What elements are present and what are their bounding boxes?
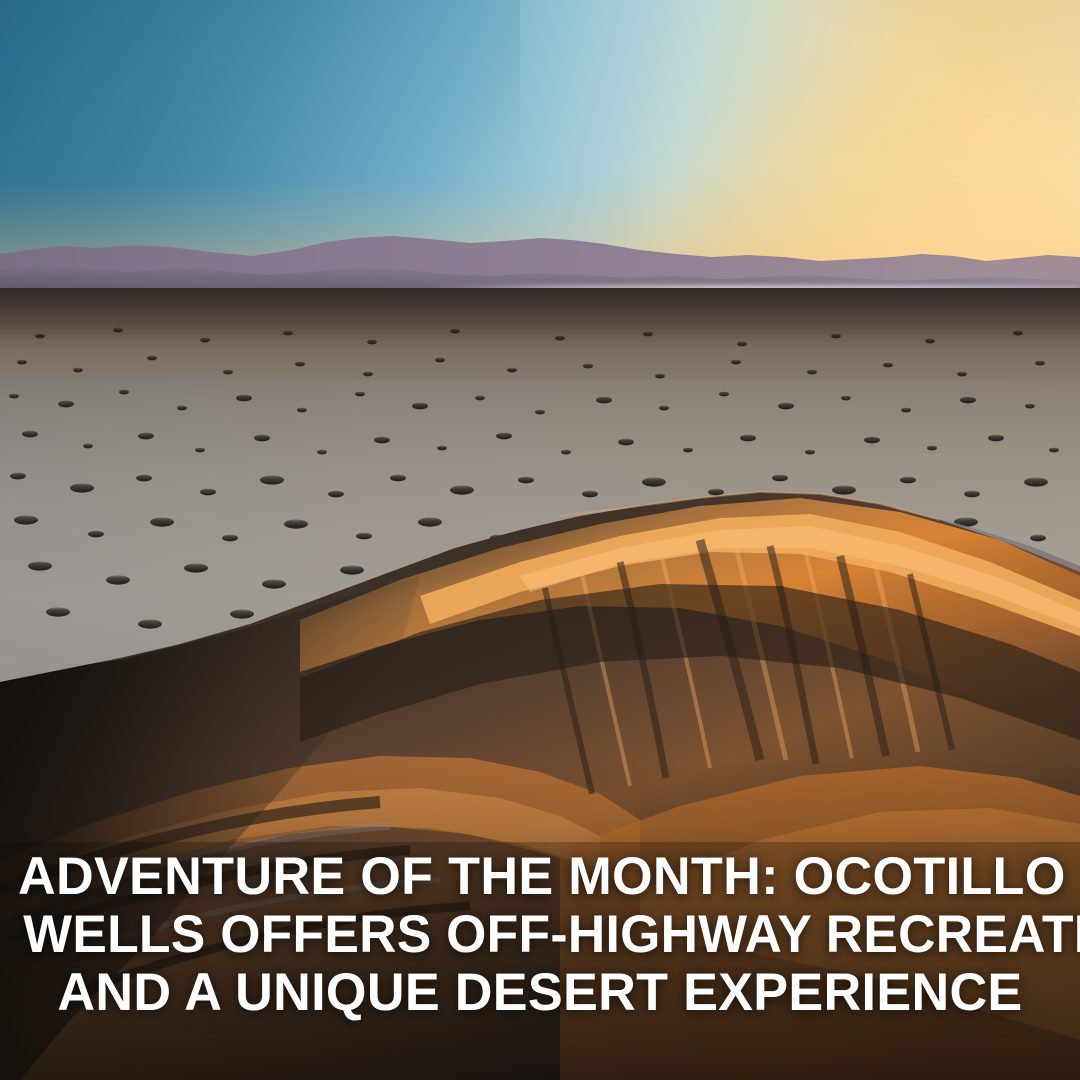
headline-line-1: ADVENTURE OF THE MONTH: OCOTILLO	[18, 848, 1062, 906]
headline: ADVENTURE OF THE MONTH: OCOTILLO WELLS O…	[0, 848, 1080, 1022]
headline-line-2: WELLS OFFERS OFF-HIGHWAY RECREATION	[23, 906, 1057, 964]
headline-line-3: AND A UNIQUE DESERT EXPERIENCE	[18, 964, 1062, 1022]
social-card: ADVENTURE OF THE MONTH: OCOTILLO WELLS O…	[0, 0, 1080, 1080]
